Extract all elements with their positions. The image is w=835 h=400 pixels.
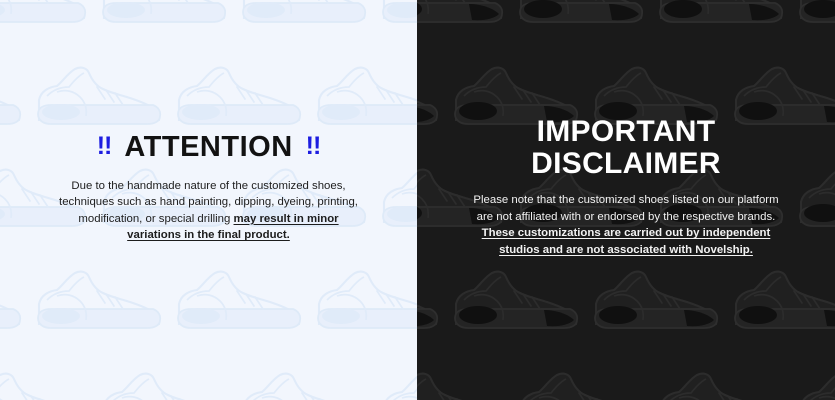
attention-heading: !! ATTENTION !! xyxy=(97,132,321,162)
attention-title: ATTENTION xyxy=(124,132,292,162)
disclaimer-panel: IMPORTANT DISCLAIMER Please note that th… xyxy=(417,0,835,400)
disclaimer-heading-line-2: DISCLAIMER xyxy=(531,148,721,180)
disclaimer-panel-content: IMPORTANT DISCLAIMER Please note that th… xyxy=(417,0,835,400)
disclaimer-heading: IMPORTANT DISCLAIMER xyxy=(531,116,721,181)
attention-panel: !! ATTENTION !! Due to the handmade natu… xyxy=(0,0,417,400)
disclaimer-heading-line-1: IMPORTANT xyxy=(531,116,721,148)
attention-body-text: Due to the handmade nature of the custom… xyxy=(59,178,359,244)
attention-panel-content: !! ATTENTION !! Due to the handmade natu… xyxy=(0,0,417,400)
exclamation-marks-left-icon: !! xyxy=(97,134,112,159)
exclamation-marks-right-icon: !! xyxy=(306,134,321,159)
disclaimer-body-text: Please note that the customized shoes li… xyxy=(466,192,786,258)
disclaimer-body-emphasis: These customizations are carried out by … xyxy=(482,227,771,256)
disclaimer-body-normal: Please note that the customized shoes li… xyxy=(473,194,778,223)
disclaimer-banner: !! ATTENTION !! Due to the handmade natu… xyxy=(0,0,835,400)
